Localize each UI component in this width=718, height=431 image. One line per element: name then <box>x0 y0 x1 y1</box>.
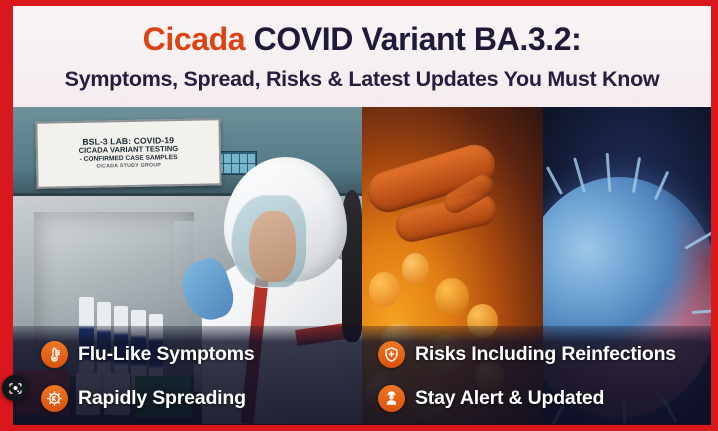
title-rest: COVID Variant BA.3.2: <box>245 21 581 57</box>
shield-plus-icon <box>378 341 405 368</box>
page-title: Cicada COVID Variant BA.3.2: <box>143 23 582 55</box>
health-worker-icon <box>378 385 405 412</box>
feature-item-stay-alert-updated[interactable]: Stay Alert & Updated <box>378 385 711 412</box>
feature-label: Stay Alert & Updated <box>415 387 604 410</box>
virus-particle <box>435 278 469 316</box>
header-band: Cicada COVID Variant BA.3.2: Symptoms, S… <box>13 6 711 107</box>
feature-item-risks-including-reinfections[interactable]: Risks Including Reinfections <box>378 341 711 368</box>
virus-spread-icon <box>41 385 68 412</box>
virus-particle <box>369 272 400 307</box>
feature-label: Rapidly Spreading <box>78 387 246 410</box>
feature-item-rapidly-spreading[interactable]: Rapidly Spreading <box>41 385 374 412</box>
poster-root: Cicada COVID Variant BA.3.2: Symptoms, S… <box>0 0 718 431</box>
thermometer-icon <box>41 341 68 368</box>
lab-sign-org: CICADA STUDY GROUP <box>96 163 161 170</box>
feature-item-flu-like-symptoms[interactable]: Flu-Like Symptoms <box>41 341 374 368</box>
page-subtitle: Symptoms, Spread, Risks & Latest Updates… <box>65 67 660 92</box>
google-lens-icon[interactable] <box>2 375 28 401</box>
feature-list: Flu-Like Symptoms Risks Including Reinfe… <box>13 326 711 425</box>
title-brand: Cicada <box>143 21 246 57</box>
scientist-face <box>249 211 296 282</box>
virus-particle <box>402 253 429 285</box>
feature-label: Flu-Like Symptoms <box>78 343 254 366</box>
lab-sign-line3: - CONFIRMED CASE SAMPLES <box>79 153 177 162</box>
feature-label: Risks Including Reinfections <box>415 343 676 366</box>
